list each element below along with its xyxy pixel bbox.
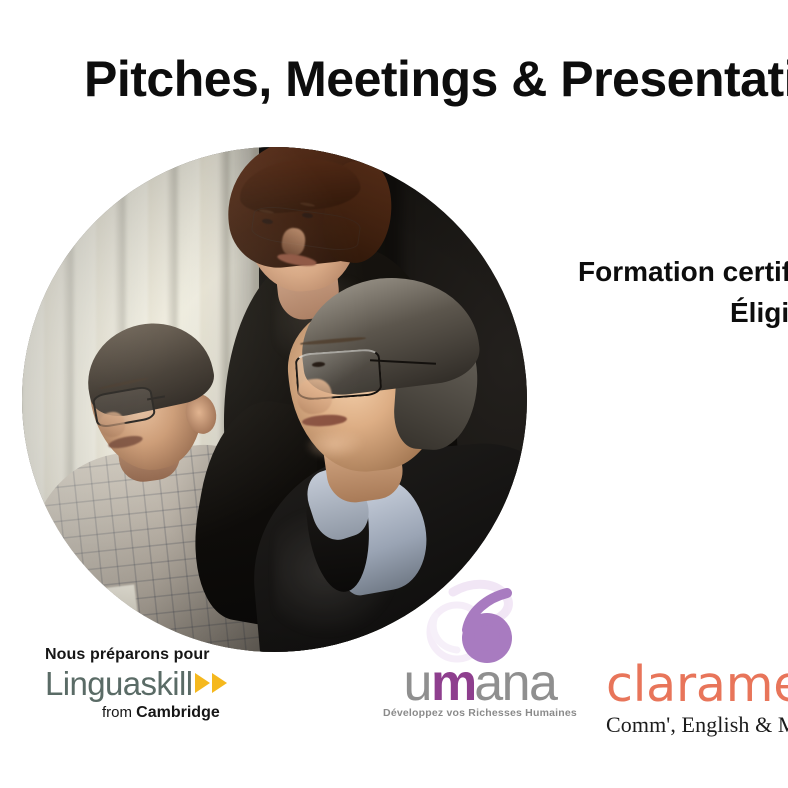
- linguaskill-prep-text: Nous préparons pour: [45, 646, 305, 664]
- linguaskill-wordmark-row: Linguaskill: [45, 667, 305, 700]
- certification-line-1: Formation certifiante: [578, 252, 788, 293]
- linguaskill-logo: Nous préparons pour Linguaskill from Cam…: [45, 646, 305, 722]
- umana-tagline: Développez vos Richesses Humaines: [375, 707, 585, 719]
- cambridge-brand: Cambridge: [136, 704, 220, 721]
- linguaskill-from-cambridge: from Cambridge: [45, 704, 305, 722]
- umana-swirl-icon: [375, 576, 585, 664]
- certification-block: Formation certifiante Éligible CPF: [578, 252, 788, 333]
- umana-wordmark: umana: [375, 662, 585, 705]
- certification-line-2: Éligible CPF: [578, 293, 788, 334]
- double-chevron-icon: [194, 670, 236, 696]
- umana-logo: umana Développez vos Richesses Humaines: [375, 576, 585, 719]
- promo-banner: Pitches, Meetings & Presentations Format…: [0, 0, 788, 788]
- claramedia-wordmark: claramedia: [606, 660, 788, 709]
- claramedia-logo: claramedia Comm', English & Marketing: [606, 660, 788, 738]
- claramedia-tagline: Comm', English & Marketing: [606, 712, 788, 738]
- page-title: Pitches, Meetings & Presentations: [84, 54, 788, 104]
- linguaskill-wordmark: Linguaskill: [45, 667, 193, 700]
- linguaskill-from-label: from: [102, 704, 132, 721]
